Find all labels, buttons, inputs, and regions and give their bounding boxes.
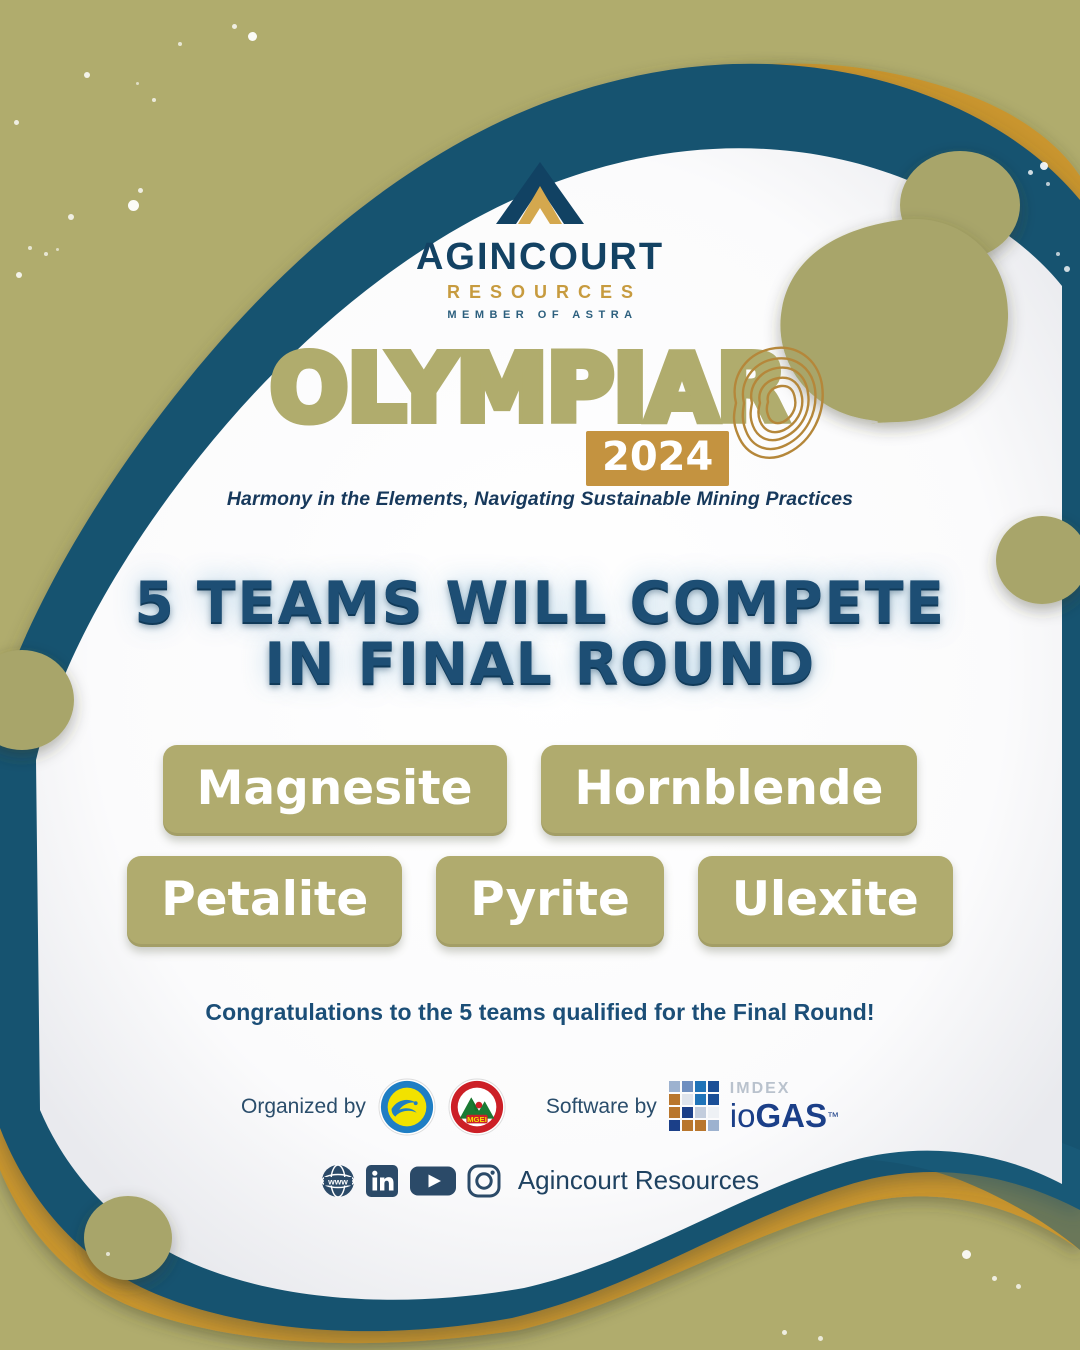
svg-text:MGEI: MGEI (467, 1115, 487, 1124)
headline-line-1: 5 TEAMS WILL COMPETE (134, 570, 945, 636)
team-row-1: Magnesite Hornblende (163, 745, 918, 836)
organized-by-group: Organized by MGEI (241, 1078, 506, 1136)
agincourt-logo: AGINCOURT RESOURCES MEMBER OF ASTRA (416, 160, 664, 321)
sponsors-row: Organized by MGEI (241, 1078, 839, 1136)
brand-subtitle: RESOURCES (438, 283, 642, 301)
headline-line-2: IN FINAL ROUND (134, 634, 945, 695)
software-by-label: Software by (546, 1095, 657, 1119)
team-chip[interactable]: Ulexite (698, 856, 953, 947)
event-tagline: Harmony in the Elements, Navigating Sust… (227, 488, 853, 511)
poster-canvas: AGINCOURT RESOURCES MEMBER OF ASTRA OLYM… (0, 0, 1080, 1350)
social-handle: Agincourt Resources (518, 1165, 759, 1196)
team-chip[interactable]: Magnesite (163, 745, 507, 836)
brand-astra-line: MEMBER OF ASTRA (442, 310, 637, 321)
iogas-gas-text: GAS (755, 1097, 827, 1134)
software-by-group: Software by (546, 1081, 839, 1133)
agincourt-chevron-icon (494, 160, 586, 226)
page-title: 5 TEAMS WILL COMPETE IN FINAL ROUND (134, 573, 945, 695)
instagram-icon[interactable] (467, 1164, 501, 1198)
linkedin-icon[interactable] (365, 1164, 399, 1198)
mgei-logo: MGEI (448, 1078, 506, 1136)
organized-by-label: Organized by (241, 1095, 366, 1119)
iogas-io-text: io (730, 1097, 756, 1134)
team-chip[interactable]: Hornblende (541, 745, 918, 836)
team-row-2: Petalite Pyrite Ulexite (127, 856, 953, 947)
iagi-logo (378, 1078, 436, 1136)
team-chip[interactable]: Pyrite (436, 856, 664, 947)
brand-name: AGINCOURT (416, 238, 664, 276)
qualified-teams-list: Magnesite Hornblende Petalite Pyrite Ule… (127, 745, 953, 947)
team-chip[interactable]: Petalite (127, 856, 402, 947)
svg-text:www: www (327, 1177, 348, 1187)
iogas-tm-mark: ™ (827, 1110, 839, 1124)
globe-www-icon[interactable]: www (321, 1164, 355, 1198)
congratulations-text: Congratulations to the 5 teams qualified… (205, 999, 874, 1026)
year-badge: 2024 (586, 431, 729, 486)
imdex-iogas-logo: IMDEX ioGAS™ (669, 1081, 839, 1133)
social-links-row: www Agincourt Resources (321, 1164, 759, 1198)
youtube-icon[interactable] (409, 1164, 457, 1198)
imdex-text: IMDEX (730, 1081, 839, 1097)
olympiar-wordmark: OLYMPIAR 2024 (260, 343, 820, 478)
imdex-grid-icon (669, 1081, 721, 1133)
